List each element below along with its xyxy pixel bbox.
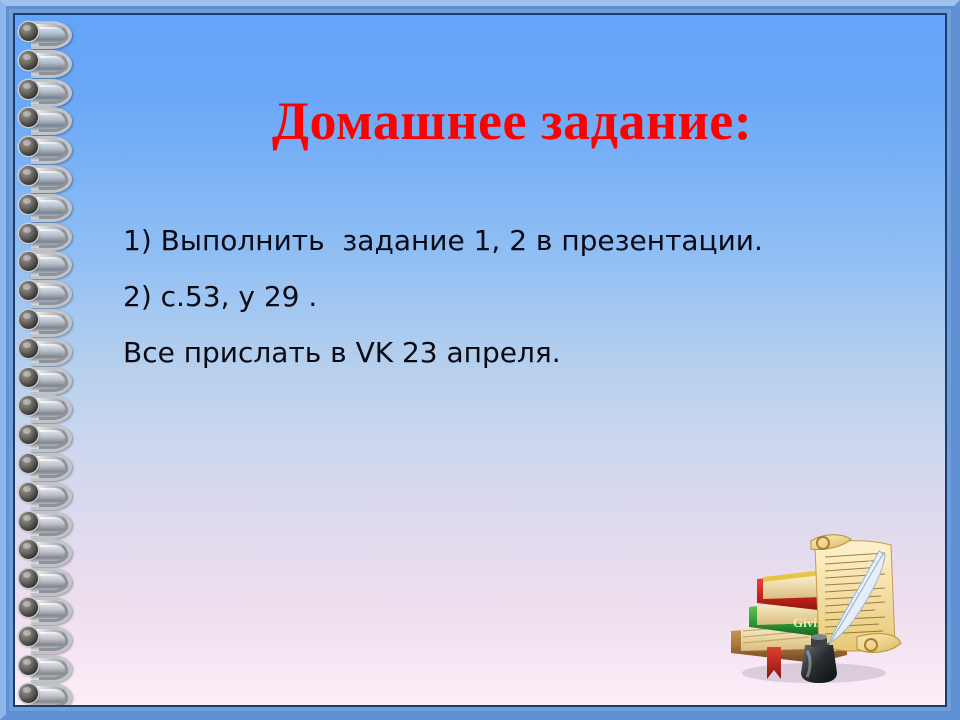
spiral-ring-icon	[19, 568, 71, 590]
spiral-ring-hole	[19, 627, 38, 646]
spiral-ring-hole	[19, 454, 38, 473]
spiral-ring-hole	[19, 224, 38, 243]
books-scroll-quill-inkwell-illustration: Hc Giviн G	[719, 527, 909, 687]
spiral-ring-hole	[19, 195, 38, 214]
spiral-ring-icon	[19, 280, 71, 302]
page-title: Домашнее задание:	[93, 93, 931, 150]
homework-line: 1) Выполнить задание 1, 2 в презентации.	[123, 227, 921, 255]
spiral-ring-icon	[19, 367, 71, 389]
spiral-ring-hole	[19, 656, 38, 675]
spiral-ring-icon	[19, 395, 71, 417]
spiral-ring-icon	[19, 21, 71, 43]
spiral-ring-hole	[19, 51, 38, 70]
spiral-ring-icon	[19, 511, 71, 533]
slide-inner-frame: Hc Giviн G	[13, 13, 947, 707]
spiral-ring-icon	[19, 338, 71, 360]
spiral-ring-hole	[19, 310, 38, 329]
homework-line: Все прислать в VK 23 апреля.	[123, 339, 921, 367]
spiral-ring-icon	[19, 223, 71, 245]
spiral-ring-hole	[19, 339, 38, 358]
spiral-ring-icon	[19, 597, 71, 619]
spiral-ring-hole	[19, 483, 38, 502]
spiral-ring-icon	[19, 453, 71, 475]
spiral-ring-icon	[19, 194, 71, 216]
spiral-ring-icon	[19, 309, 71, 331]
spiral-ring-hole	[19, 166, 38, 185]
spiral-ring-hole	[19, 512, 38, 531]
slide: Hc Giviн G	[0, 0, 960, 720]
spiral-ring-icon	[19, 165, 71, 187]
spiral-ring-icon	[19, 626, 71, 648]
spiral-ring-icon	[19, 539, 71, 561]
spiral-ring-hole	[19, 22, 38, 41]
spiral-ring-icon	[19, 79, 71, 101]
homework-line: 2) с.53, у 29 .	[123, 283, 921, 311]
spiral-ring-icon	[19, 683, 71, 705]
spiral-ring-icon	[19, 107, 71, 129]
spiral-ring-icon	[19, 136, 71, 158]
spiral-ring-icon	[19, 50, 71, 72]
spiral-ring-icon	[19, 482, 71, 504]
spiral-ring-hole	[19, 598, 38, 617]
spiral-ring-hole	[19, 368, 38, 387]
spiral-ring-icon	[19, 424, 71, 446]
spiral-binding	[15, 15, 85, 705]
homework-list: 1) Выполнить задание 1, 2 в презентации.…	[123, 227, 921, 395]
spiral-ring-hole	[19, 80, 38, 99]
spiral-ring-icon	[19, 655, 71, 677]
spiral-ring-icon	[19, 251, 71, 273]
